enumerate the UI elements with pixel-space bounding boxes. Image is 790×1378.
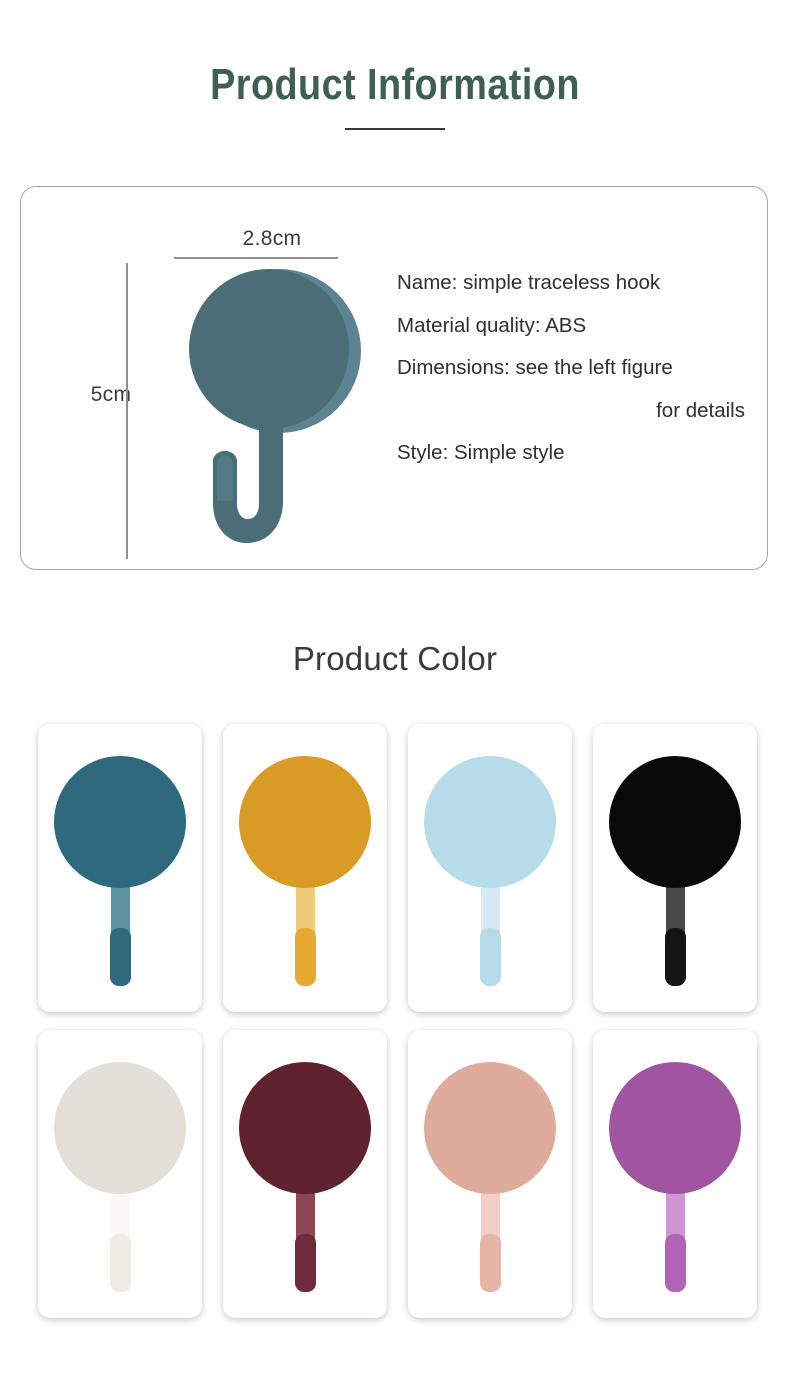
spec-list: Name: simple traceless hook Material qua… <box>397 273 749 486</box>
color-swatch-card[interactable] <box>593 1030 757 1318</box>
color-swatch-card[interactable] <box>593 724 757 1012</box>
color-swatch-card[interactable] <box>408 1030 572 1318</box>
hook-purple-illustration <box>608 1048 742 1300</box>
color-swatch-card[interactable] <box>38 724 202 1012</box>
spec-style: Style: Simple style <box>397 443 749 464</box>
height-dimension-label: 5cm <box>73 383 149 407</box>
color-swatch-card[interactable] <box>38 1030 202 1318</box>
product-info-card: 2.8cm 5cm Name: simple traceless hook Ma… <box>20 186 768 570</box>
spec-name: Name: simple traceless hook <box>397 273 749 294</box>
color-swatch-card[interactable] <box>408 724 572 1012</box>
hook-cream-white-illustration <box>53 1048 187 1300</box>
color-swatch-card[interactable] <box>223 724 387 1012</box>
color-swatch-grid <box>38 724 754 1318</box>
spec-material: Material quality: ABS <box>397 316 749 337</box>
dimension-diagram: 2.8cm 5cm <box>21 187 391 571</box>
hook-light-blue-illustration <box>423 742 557 994</box>
spec-dimensions: Dimensions: see the left figure <box>397 358 749 379</box>
hook-wine-red-illustration <box>238 1048 372 1300</box>
width-dimension-label: 2.8cm <box>197 227 347 251</box>
hook-pink-illustration <box>423 1048 557 1300</box>
title-divider <box>345 128 445 130</box>
width-dimension-line <box>174 257 338 259</box>
spec-dimensions-continued: for details <box>397 401 749 422</box>
product-color-title: Product Color <box>0 640 790 678</box>
page-title: Product Information <box>55 0 734 108</box>
color-swatch-card[interactable] <box>223 1030 387 1318</box>
hook-teal-illustration <box>53 742 187 994</box>
hook-black-illustration <box>608 742 742 994</box>
hook-diagram-illustration <box>171 265 371 561</box>
height-dimension-line <box>126 263 128 559</box>
hook-mustard-yellow-illustration <box>238 742 372 994</box>
